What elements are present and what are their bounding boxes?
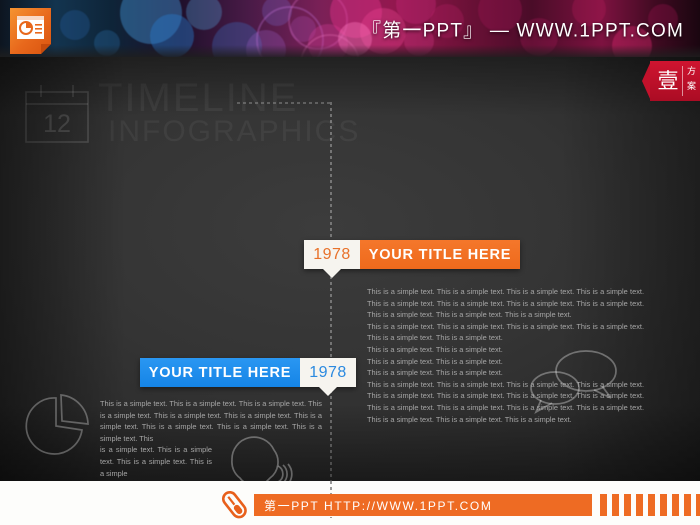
paragraph: This is a simple text. This is a simple … [367, 344, 527, 356]
footer-stripe [648, 494, 655, 516]
right-description-block: This is a simple text. This is a simple … [367, 286, 644, 425]
footer-url-bar[interactable]: 第一PPT HTTP://WWW.1PPT.COM [254, 494, 570, 516]
slide-body: TIMELINE INFOGRAPHICS 12 [0, 57, 700, 481]
timeline-title-blue: YOUR TITLE HERE [140, 358, 300, 387]
timeline-title-orange: YOUR TITLE HERE [360, 240, 520, 269]
watermark-title: TIMELINE [98, 79, 298, 117]
footer-stripe [684, 494, 691, 516]
presentation-slide: 『第一PPT』 — WWW.1PPT.COM [0, 0, 700, 525]
paragraph: This is a simple text. This is a simple … [367, 321, 644, 344]
timeline-spine [330, 102, 332, 481]
timeline-entry-orange[interactable]: 1978 YOUR TITLE HERE [304, 240, 520, 269]
svg-text:12: 12 [43, 110, 71, 138]
footer-url-text: 第一PPT HTTP://WWW.1PPT.COM [264, 497, 492, 514]
seal-number: 壹 [655, 67, 681, 95]
timeline-year-orange: 1978 [304, 240, 360, 269]
watermark-subtitle: INFOGRAPHICS [108, 115, 360, 149]
safety-pin-icon [217, 488, 251, 522]
bokeh-circle [60, 10, 90, 40]
seal-label-line1: 方 [687, 67, 696, 77]
seal-divider [682, 66, 683, 96]
paragraph: This is a simple text. This is a simple … [367, 356, 527, 368]
footer-stripe [696, 494, 700, 516]
seal-label: 方案 [685, 65, 698, 95]
seal-label-line2: 案 [687, 82, 696, 92]
top-banner: 『第一PPT』 — WWW.1PPT.COM [0, 0, 700, 57]
paragraph: This is a simple text. This is a simple … [100, 398, 322, 444]
footer-stripe [660, 494, 667, 516]
paragraph: This is a simple text. This is a simple … [367, 286, 644, 321]
timeline-year-blue: 1978 [300, 358, 356, 387]
footer-stripe [672, 494, 679, 516]
banner-notch [323, 269, 341, 278]
timeline-spine-top-dash [237, 102, 332, 104]
footer-stripe [636, 494, 643, 516]
footer-stripes [570, 494, 700, 516]
chapter-seal-badge: 壹 方案 [642, 61, 700, 101]
banner-fade [0, 45, 700, 57]
paragraph: is a simple text. This is a simple text.… [100, 444, 212, 479]
site-title: 『第一PPT』 — WWW.1PPT.COM [362, 15, 684, 42]
footer-stripe [624, 494, 631, 516]
paragraph: This is a simple text. This is a simple … [367, 379, 644, 425]
pie-chart-icon [22, 390, 94, 462]
left-description-block: This is a simple text. This is a simple … [100, 398, 322, 481]
footer-stripe [612, 494, 619, 516]
timeline-entry-blue[interactable]: YOUR TITLE HERE 1978 [140, 358, 356, 387]
powerpoint-logo-icon [8, 5, 53, 55]
footer-stripe [600, 494, 607, 516]
footer-stripe [570, 494, 592, 516]
paragraph: This is a simple text. This is a simple … [367, 367, 527, 379]
calendar-icon: 12 [22, 84, 92, 146]
banner-notch [319, 387, 337, 396]
